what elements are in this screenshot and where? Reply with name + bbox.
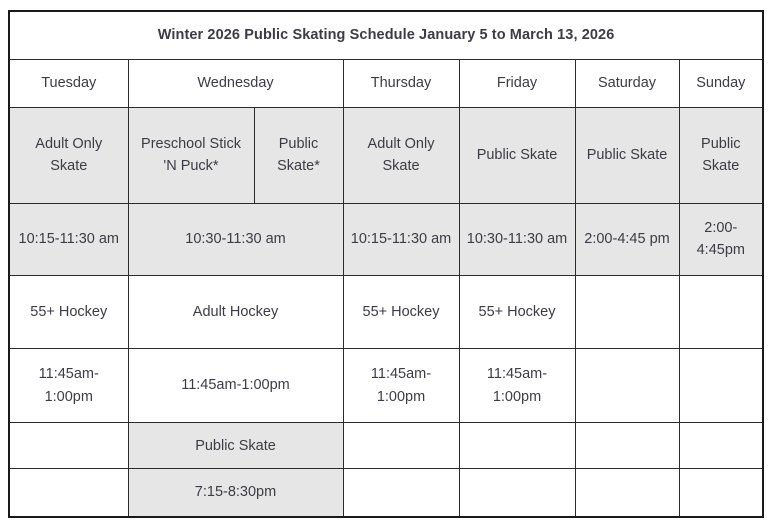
activity-friday-1: Public Skate [459, 107, 575, 203]
time-row-1: 10:15-11:30 am 10:30-11:30 am 10:15-11:3… [9, 203, 763, 275]
day-header-friday: Friday [459, 59, 575, 107]
day-header-tuesday: Tuesday [9, 59, 128, 107]
time-saturday-1: 2:00-4:45 pm [575, 203, 679, 275]
activity-tuesday-3 [9, 423, 128, 469]
time-friday-1: 10:30-11:30 am [459, 203, 575, 275]
page-title: Winter 2026 Public Skating Schedule Janu… [9, 11, 763, 59]
time-sunday-3 [679, 469, 763, 517]
activity-sunday-2 [679, 276, 763, 349]
day-header-thursday: Thursday [343, 59, 459, 107]
activity-saturday-3 [575, 423, 679, 469]
time-friday-2: 11:45am-1:00pm [459, 349, 575, 423]
activity-row-2: 55+ Hockey Adult Hockey 55+ Hockey 55+ H… [9, 276, 763, 349]
time-tuesday-2: 11:45am-1:00pm [9, 349, 128, 423]
activity-friday-3 [459, 423, 575, 469]
activity-saturday-1: Public Skate [575, 107, 679, 203]
time-wednesday-3: 7:15-8:30pm [128, 469, 343, 517]
activity-wednesday-1b: Public Skate* [254, 107, 343, 203]
time-sunday-1: 2:00-4:45pm [679, 203, 763, 275]
day-header-saturday: Saturday [575, 59, 679, 107]
time-wednesday-2: 11:45am-1:00pm [128, 349, 343, 423]
activity-wednesday-3: Public Skate [128, 423, 343, 469]
activity-tuesday-1: Adult Only Skate [9, 107, 128, 203]
activity-tuesday-2: 55+ Hockey [9, 276, 128, 349]
day-header-wednesday: Wednesday [128, 59, 343, 107]
activity-row-1: Adult Only Skate Preschool Stick 'N Puck… [9, 107, 763, 203]
activity-saturday-2 [575, 276, 679, 349]
time-friday-3 [459, 469, 575, 517]
time-saturday-2 [575, 349, 679, 423]
activity-wednesday-1a: Preschool Stick 'N Puck* [128, 107, 254, 203]
activity-thursday-3 [343, 423, 459, 469]
time-thursday-2: 11:45am-1:00pm [343, 349, 459, 423]
time-tuesday-1: 10:15-11:30 am [9, 203, 128, 275]
time-saturday-3 [575, 469, 679, 517]
time-row-2: 11:45am-1:00pm 11:45am-1:00pm 11:45am-1:… [9, 349, 763, 423]
activity-wednesday-2: Adult Hockey [128, 276, 343, 349]
time-thursday-1: 10:15-11:30 am [343, 203, 459, 275]
schedule-container: Winter 2026 Public Skating Schedule Janu… [8, 10, 762, 518]
day-header-row: Tuesday Wednesday Thursday Friday Saturd… [9, 59, 763, 107]
time-wednesday-1: 10:30-11:30 am [128, 203, 343, 275]
activity-thursday-1: Adult Only Skate [343, 107, 459, 203]
public-skating-schedule-table: Winter 2026 Public Skating Schedule Janu… [8, 10, 764, 518]
time-sunday-2 [679, 349, 763, 423]
day-header-sunday: Sunday [679, 59, 763, 107]
time-tuesday-3 [9, 469, 128, 517]
time-row-3: 7:15-8:30pm [9, 469, 763, 517]
time-thursday-3 [343, 469, 459, 517]
title-row: Winter 2026 Public Skating Schedule Janu… [9, 11, 763, 59]
activity-row-3: Public Skate [9, 423, 763, 469]
activity-thursday-2: 55+ Hockey [343, 276, 459, 349]
activity-sunday-1: Public Skate [679, 107, 763, 203]
activity-friday-2: 55+ Hockey [459, 276, 575, 349]
activity-sunday-3 [679, 423, 763, 469]
